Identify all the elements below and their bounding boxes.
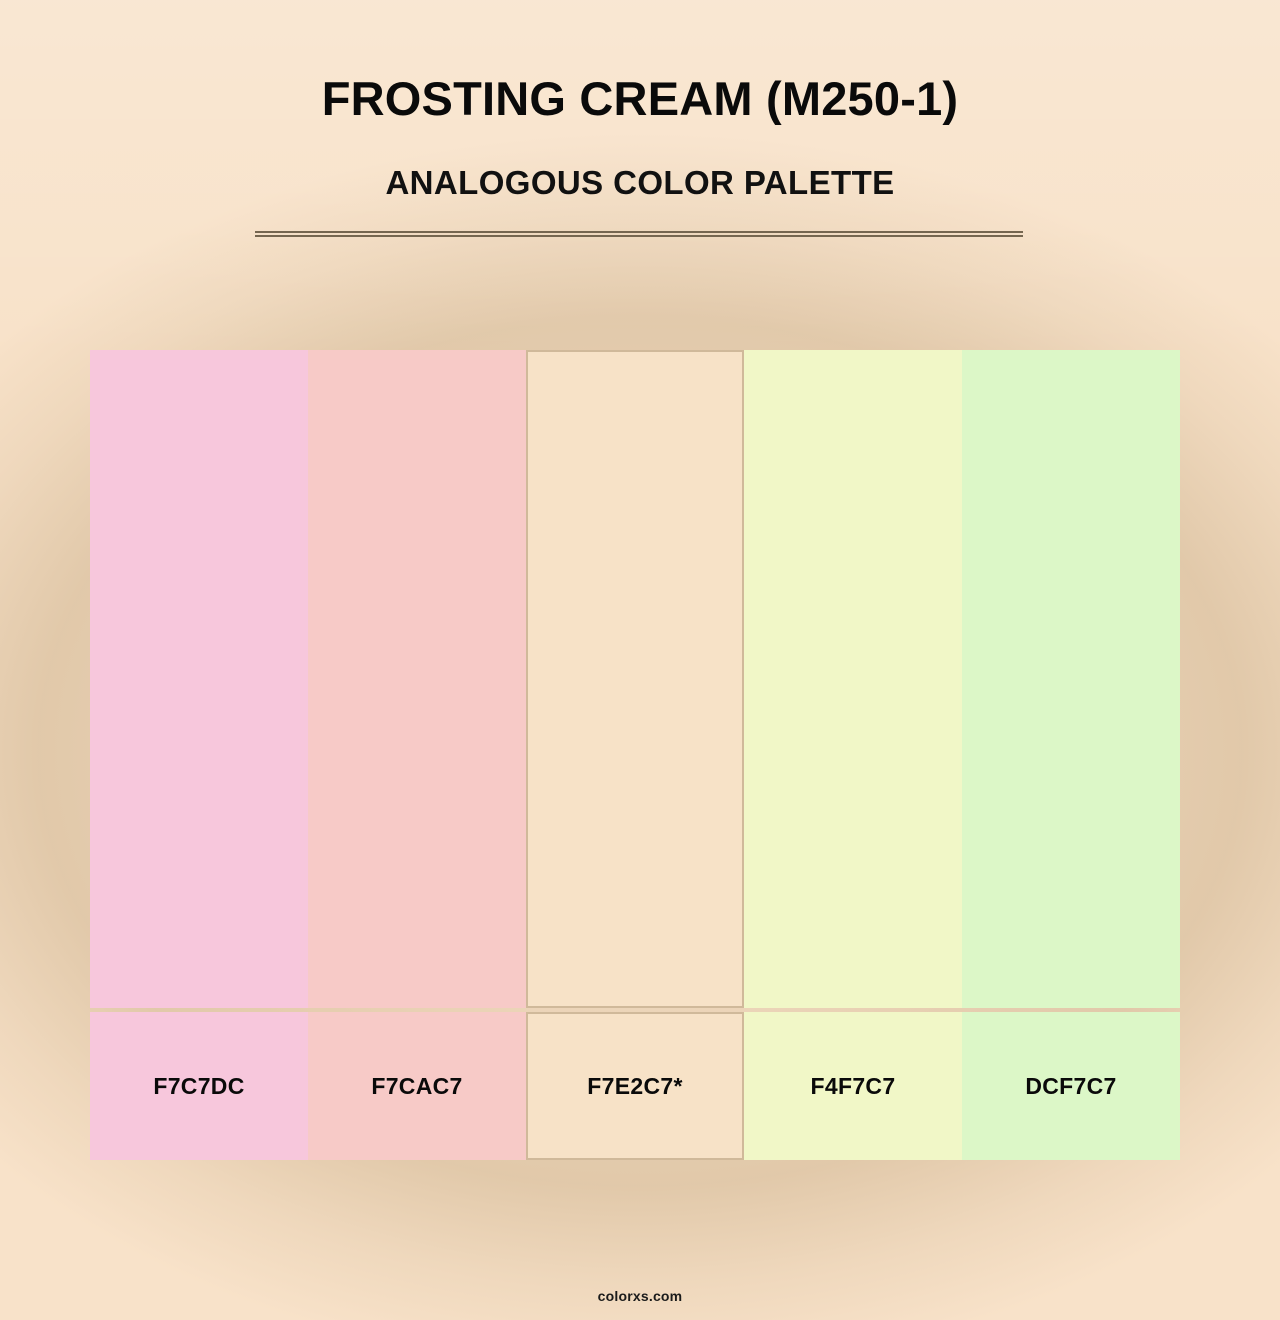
swatch-label-cell[interactable]: DCF7C7 <box>962 1012 1180 1160</box>
footer: colorxs.com <box>0 1288 1280 1306</box>
swatch-color-chip[interactable] <box>308 350 526 1008</box>
swatch-hex-label: F7CAC7 <box>371 1073 462 1100</box>
swatch-color-chip[interactable] <box>90 350 308 1008</box>
divider-rule-bottom <box>255 235 1023 237</box>
swatch-column[interactable]: F7CAC7 <box>308 350 526 1160</box>
swatch-column[interactable]: DCF7C7 <box>962 350 1180 1160</box>
swatch-hex-label: F7E2C7* <box>587 1073 682 1100</box>
color-palette: F7C7DCF7CAC7F7E2C7*F4F7C7DCF7C7 <box>90 350 1180 1160</box>
swatch-label-cell[interactable]: F4F7C7 <box>744 1012 962 1160</box>
swatch-hex-label: F4F7C7 <box>811 1073 896 1100</box>
swatch-label-cell[interactable]: F7C7DC <box>90 1012 308 1160</box>
title-divider <box>255 231 1023 237</box>
divider-rule-top <box>255 231 1023 233</box>
swatch-column[interactable]: F7E2C7* <box>526 350 744 1160</box>
swatch-hex-label: DCF7C7 <box>1025 1073 1116 1100</box>
swatch-column[interactable]: F4F7C7 <box>744 350 962 1160</box>
page-subtitle: ANALOGOUS COLOR PALETTE <box>0 165 1280 201</box>
swatch-color-chip[interactable] <box>526 350 744 1008</box>
swatch-column[interactable]: F7C7DC <box>90 350 308 1160</box>
swatch-hex-label: F7C7DC <box>153 1073 244 1100</box>
footer-site-label: colorxs.com <box>598 1288 683 1304</box>
swatch-color-chip[interactable] <box>744 350 962 1008</box>
swatch-color-chip[interactable] <box>962 350 1180 1008</box>
swatch-label-cell[interactable]: F7E2C7* <box>526 1012 744 1160</box>
page-root: FROSTING CREAM (M250-1) ANALOGOUS COLOR … <box>0 0 1280 1320</box>
page-title: FROSTING CREAM (M250-1) <box>0 74 1280 125</box>
swatch-label-cell[interactable]: F7CAC7 <box>308 1012 526 1160</box>
